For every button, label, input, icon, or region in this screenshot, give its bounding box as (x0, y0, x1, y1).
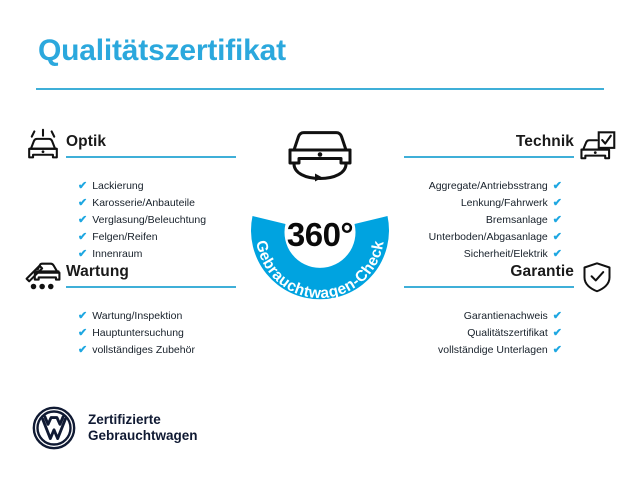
list-item-label: Aggregate/Antriebsstrang (429, 178, 548, 195)
check-icon: ✔ (78, 345, 87, 356)
car-shine-icon (20, 126, 66, 168)
volkswagen-logo (32, 406, 76, 450)
section-divider-technik (404, 156, 574, 158)
list-item: ✔Hauptuntersuchung (78, 325, 250, 342)
list-item-label: Wartung/Inspektion (92, 308, 182, 325)
footer-brand: Zertifizierte Gebrauchtwagen (32, 406, 198, 450)
check-icon: ✔ (78, 198, 87, 209)
section-optik: Optik ✔Lackierung ✔Karosserie/Anbauteile… (20, 126, 250, 263)
list-item: ✔Lenkung/Fahrwerk (390, 195, 562, 212)
list-item: ✔Aggregate/Antriebsstrang (390, 178, 562, 195)
check-icon: ✔ (553, 215, 562, 226)
car-checkbox-icon (574, 126, 620, 168)
title-divider (36, 88, 604, 90)
check-icon: ✔ (78, 328, 87, 339)
footer-line-2: Gebrauchtwagen (88, 428, 198, 444)
wrench-car-icon (20, 256, 66, 298)
list-item-label: Verglasung/Beleuchtung (92, 212, 206, 229)
list-item: ✔Unterboden/Abgasanlage (390, 229, 562, 246)
section-title-wartung: Wartung (66, 263, 250, 281)
list-item-label: Qualitätszertifikat (467, 325, 548, 342)
check-icon: ✔ (78, 181, 87, 192)
check-icon: ✔ (553, 328, 562, 339)
list-item-label: Lenkung/Fahrwerk (461, 195, 548, 212)
list-item: ✔Lackierung (78, 178, 250, 195)
checklist-garantie: ✔Garantienachweis ✔Qualitätszertifikat ✔… (390, 308, 620, 359)
check-icon: ✔ (78, 215, 87, 226)
check-icon: ✔ (553, 198, 562, 209)
list-item: ✔vollständiges Zubehör (78, 342, 250, 359)
section-title-garantie: Garantie (390, 263, 574, 281)
checklist-technik: ✔Aggregate/Antriebsstrang ✔Lenkung/Fahrw… (390, 178, 620, 263)
list-item: ✔Felgen/Reifen (78, 229, 250, 246)
list-item: ✔Bremsanlage (390, 212, 562, 229)
section-garantie: Garantie ✔Garantienachweis ✔Qualitätszer… (390, 256, 620, 359)
list-item: ✔Qualitätszertifikat (390, 325, 562, 342)
list-item-label: Hauptuntersuchung (92, 325, 184, 342)
list-item-label: Felgen/Reifen (92, 229, 157, 246)
list-item-label: Karosserie/Anbauteile (92, 195, 195, 212)
section-divider-optik (66, 156, 236, 158)
section-title-technik: Technik (390, 133, 574, 151)
check-icon: ✔ (553, 232, 562, 243)
list-item-label: vollständiges Zubehör (92, 342, 195, 359)
section-divider-garantie (404, 286, 574, 288)
checklist-optik: ✔Lackierung ✔Karosserie/Anbauteile ✔Verg… (20, 178, 250, 263)
section-divider-wartung (66, 286, 236, 288)
section-technik: Technik ✔Aggregate/Antriebsstrang ✔Lenku… (390, 126, 620, 263)
check-icon: ✔ (78, 311, 87, 322)
badge-degrees-label: 360° (234, 216, 406, 254)
check-icon: ✔ (78, 232, 87, 243)
car-rotation-icon (278, 120, 362, 182)
list-item-label: vollständige Unterlagen (438, 342, 548, 359)
360-gebrauchtwagen-check-badge: Gebrauchtwagen-Check 360° (234, 120, 406, 320)
shield-check-icon (574, 256, 620, 298)
list-item-label: Lackierung (92, 178, 143, 195)
list-item: ✔Garantienachweis (390, 308, 562, 325)
check-icon: ✔ (553, 311, 562, 322)
list-item: ✔Karosserie/Anbauteile (78, 195, 250, 212)
section-wartung: Wartung ✔Wartung/Inspektion ✔Hauptunters… (20, 256, 250, 359)
list-item-label: Bremsanlage (486, 212, 548, 229)
check-icon: ✔ (553, 181, 562, 192)
list-item: ✔Wartung/Inspektion (78, 308, 250, 325)
footer-line-1: Zertifizierte (88, 412, 198, 428)
list-item: ✔Verglasung/Beleuchtung (78, 212, 250, 229)
list-item-label: Unterboden/Abgasanlage (429, 229, 548, 246)
checklist-wartung: ✔Wartung/Inspektion ✔Hauptuntersuchung ✔… (20, 308, 250, 359)
check-icon: ✔ (553, 345, 562, 356)
section-title-optik: Optik (66, 133, 250, 151)
page-title: Qualitätszertifikat (38, 34, 286, 68)
list-item-label: Garantienachweis (464, 308, 548, 325)
list-item: ✔vollständige Unterlagen (390, 342, 562, 359)
footer-text: Zertifizierte Gebrauchtwagen (88, 412, 198, 444)
